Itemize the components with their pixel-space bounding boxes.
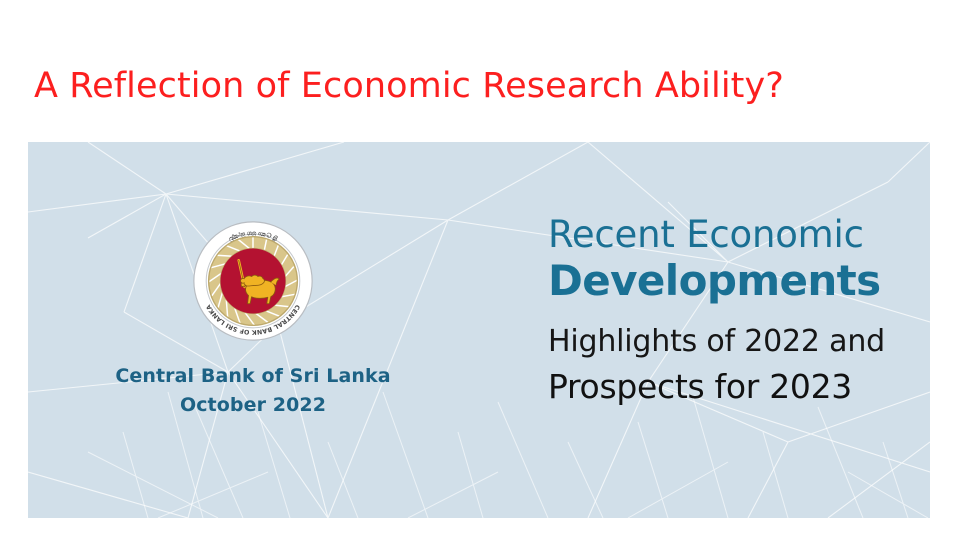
annotation-title: A Reflection of Economic Research Abilit… (34, 66, 924, 106)
cover-subtitle-line-1: Highlights of 2022 and (548, 324, 920, 360)
brand-block: ශ්‍රී ලංකා මහ බැංකුව CENTRAL BANK OF SRI… (58, 212, 448, 421)
brand-caption: Central Bank of Sri Lanka October 2022 (58, 362, 448, 421)
cover-text-block: Recent Economic Developments Highlights … (548, 214, 920, 406)
slide-root: A Reflection of Economic Research Abilit… (0, 0, 960, 540)
cover-slide-panel: ශ්‍රී ලංකා මහ බැංකුව CENTRAL BANK OF SRI… (28, 142, 930, 518)
publication-date: October 2022 (58, 391, 448, 420)
cover-title-line-1: Recent Economic (548, 214, 920, 255)
organization-name: Central Bank of Sri Lanka (58, 362, 448, 391)
cover-subtitle-line-2: Prospects for 2023 (548, 367, 920, 407)
cover-title-line-2: Developments (548, 255, 920, 306)
central-bank-of-sri-lanka-emblem-icon: ශ්‍රී ලංකා මහ බැංකුව CENTRAL BANK OF SRI… (184, 212, 322, 350)
